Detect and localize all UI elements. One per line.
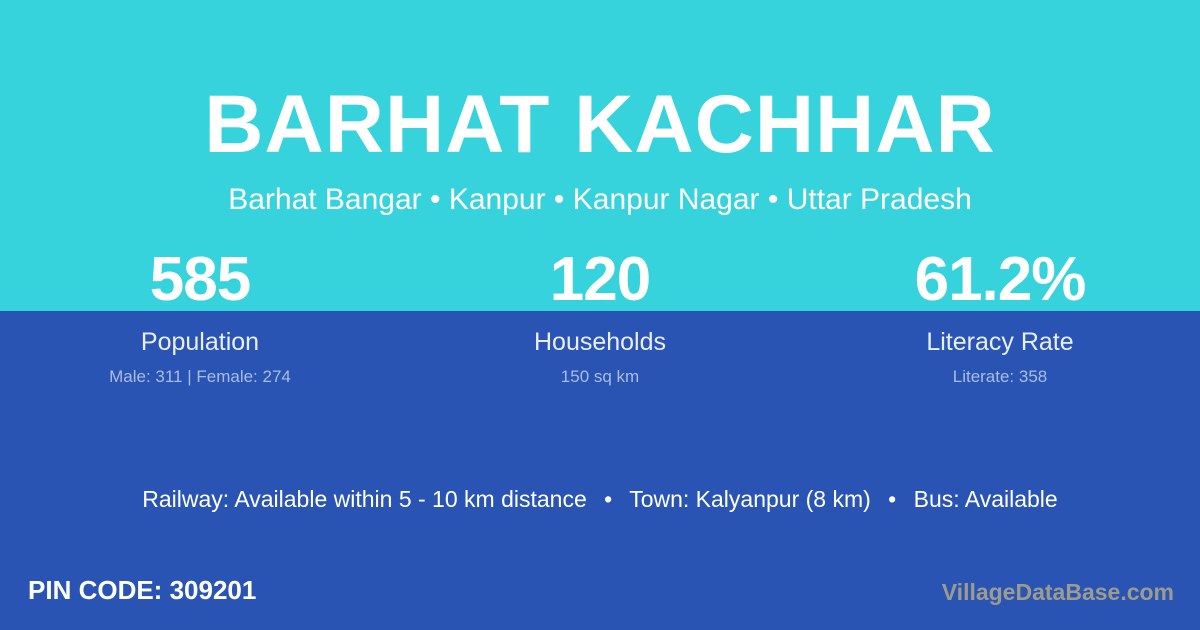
stat-literacy-rate-sub: Literate: 358 (800, 367, 1200, 387)
stat-population-label: Population (0, 328, 400, 356)
infra-separator-1: • (593, 482, 623, 516)
stat-population-sub: Male: 311 | Female: 274 (0, 367, 400, 387)
page-title: BARHAT KACHHAR (0, 78, 1200, 172)
site-brand: VillageDataBase.com (942, 578, 1174, 606)
stat-literacy-rate: 61.2% Literacy Rate Literate: 358 (800, 248, 1200, 387)
stats-row: 585 Population Male: 311 | Female: 274 1… (0, 248, 1200, 387)
infra-bus: Bus: Available (914, 486, 1058, 512)
infrastructure-row: Railway: Available within 5 - 10 km dist… (0, 482, 1200, 516)
breadcrumb: Barhat Bangar • Kanpur • Kanpur Nagar • … (0, 180, 1200, 220)
infra-separator-2: • (877, 482, 907, 516)
stat-households: 120 Households 150 sq km (400, 248, 800, 387)
stat-literacy-rate-value: 61.2% (800, 248, 1200, 312)
infra-town: Town: Kalyanpur (8 km) (629, 486, 871, 512)
pin-code: PIN CODE: 309201 (28, 574, 256, 606)
stat-population: 585 Population Male: 311 | Female: 274 (0, 248, 400, 387)
village-info-card: BARHAT KACHHAR Barhat Bangar • Kanpur • … (0, 0, 1200, 630)
infra-railway: Railway: Available within 5 - 10 km dist… (142, 486, 586, 512)
stat-households-label: Households (400, 328, 800, 356)
stat-population-value: 585 (0, 248, 400, 312)
stat-households-sub: 150 sq km (400, 367, 800, 387)
stat-households-value: 120 (400, 248, 800, 312)
stat-literacy-rate-label: Literacy Rate (800, 328, 1200, 356)
